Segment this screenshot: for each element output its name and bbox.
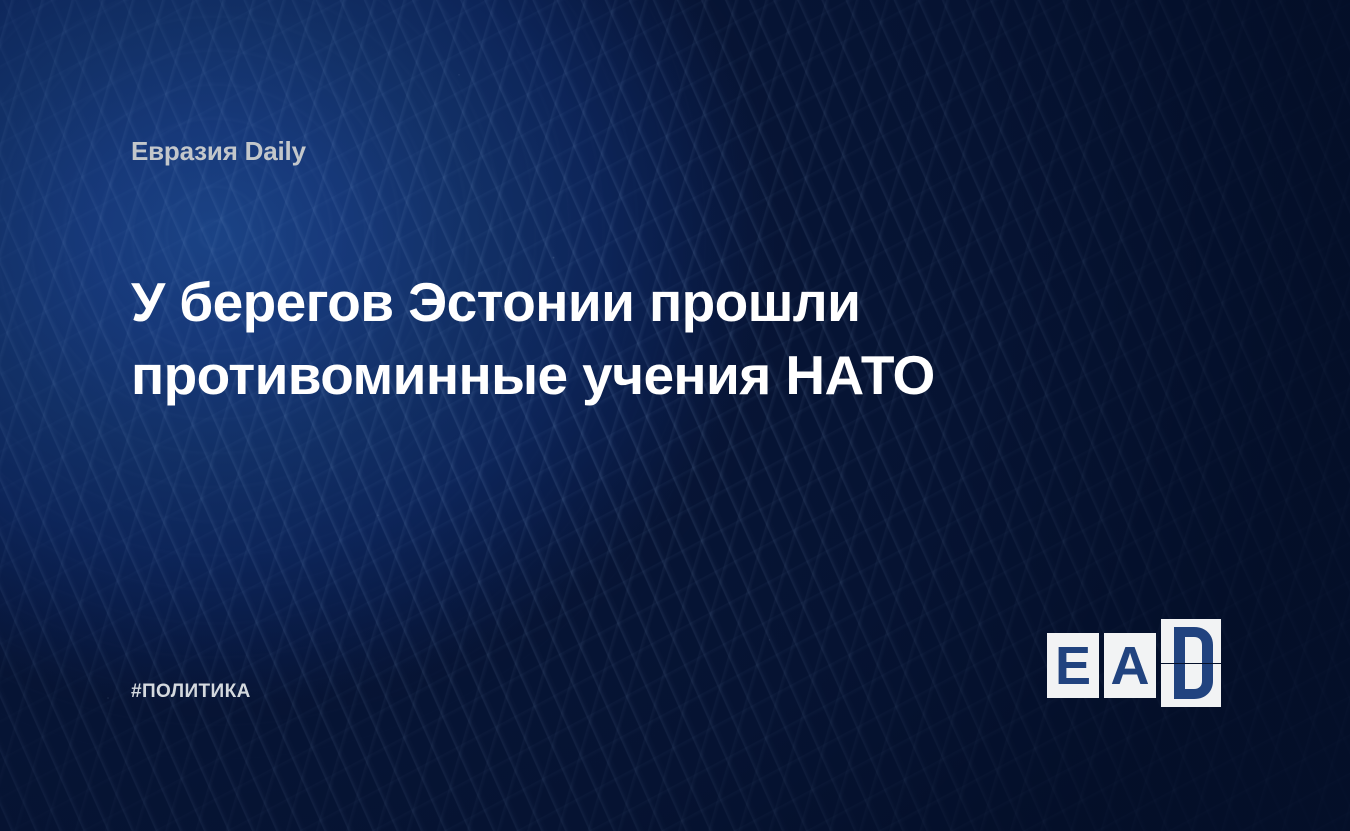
eadaily-logo[interactable]: E A [1047,619,1221,707]
logo-tile-a: A [1104,633,1156,698]
logo-d-top-icon [1161,619,1221,663]
share-card-canvas: Евразия Daily У берегов Эстонии прошли п… [0,0,1350,831]
headline: У берегов Эстонии прошли противоминные у… [131,266,991,412]
card-content: Евразия Daily У берегов Эстонии прошли п… [0,0,1350,831]
logo-tile-d-top [1161,619,1221,663]
headline-line-2: противоминные учения НАТО [131,339,991,412]
site-logo-text[interactable]: Евразия Daily [131,136,306,167]
logo-tile-e: E [1047,633,1099,698]
logo-d-bottom-icon [1161,664,1221,707]
headline-line-1: У берегов Эстонии прошли [131,266,991,339]
logo-tile-d-bottom [1161,664,1221,707]
category-hashtag[interactable]: #ПОЛИТИКА [131,681,251,703]
